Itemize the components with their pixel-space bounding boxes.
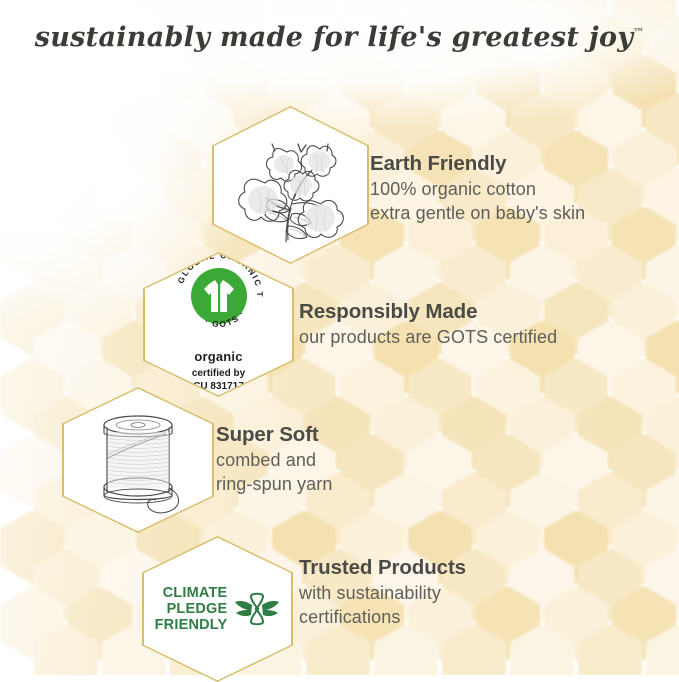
winged-hourglass-icon [234, 589, 280, 629]
thread-spool-icon [78, 400, 198, 520]
feature-desc-line: 100% organic cotton [370, 178, 585, 201]
feature-description: 100% organic cotton extra gentle on baby… [370, 178, 585, 225]
page-headline: sustainably made for life's greatest joy… [0, 22, 679, 53]
feature-description: combed and ring-spun yarn [216, 449, 332, 496]
hexagon-frame-trusted-products: CLIMATE PLEDGE FRIENDLY [142, 536, 293, 682]
feature-title: Trusted Products [299, 556, 466, 580]
gots-caption: organic certified by CU 831717 [192, 344, 245, 393]
feature-text-super-soft: Super Soft combed and ring-spun yarn [216, 423, 332, 496]
hexagon-frame-responsibly-made: GLOBAL ORGANIC TEXTILE STANDARD · GOTS ·… [143, 252, 294, 397]
cotton-plant-icon [228, 122, 354, 248]
feature-description: our products are GOTS certified [299, 326, 557, 349]
feature-text-earth-friendly: Earth Friendly 100% organic cotton extra… [370, 152, 585, 225]
feature-description: with sustainability certifications [299, 582, 466, 629]
gots-seal-icon: GLOBAL ORGANIC TEXTILE STANDARD · GOTS · [171, 248, 267, 344]
headline-text: sustainably made for life's greatest joy [35, 22, 634, 53]
feature-title: Responsibly Made [299, 300, 557, 324]
gots-certification-icon: GLOBAL ORGANIC TEXTILE STANDARD · GOTS ·… [171, 248, 267, 393]
feature-desc-line: certifications [299, 606, 466, 629]
gots-certified-by-label: certified by [192, 368, 245, 381]
feature-desc-line: extra gentle on baby's skin [370, 202, 585, 225]
climate-pledge-line-3: FRIENDLY [155, 617, 228, 633]
trademark-symbol: ™ [633, 26, 644, 39]
gots-certificate-code: CU 831717 [192, 381, 245, 394]
feature-desc-line: our products are GOTS certified [299, 326, 557, 349]
climate-pledge-line-2: PLEDGE [155, 601, 228, 617]
climate-pledge-friendly-icon: CLIMATE PLEDGE FRIENDLY [155, 585, 281, 634]
feature-desc-line: combed and [216, 449, 332, 472]
hexagon-frame-super-soft [62, 387, 214, 533]
climate-pledge-line-1: CLIMATE [155, 585, 228, 601]
feature-desc-line: with sustainability [299, 582, 466, 605]
climate-pledge-wordmark: CLIMATE PLEDGE FRIENDLY [155, 585, 228, 634]
feature-title: Super Soft [216, 423, 332, 447]
feature-text-responsibly-made: Responsibly Made our products are GOTS c… [299, 300, 557, 350]
feature-text-trusted-products: Trusted Products with sustainability cer… [299, 556, 466, 629]
feature-desc-line: ring-spun yarn [216, 473, 332, 496]
gots-organic-label: organic [192, 349, 245, 364]
feature-title: Earth Friendly [370, 152, 585, 176]
hexagon-frame-earth-friendly [212, 106, 369, 264]
